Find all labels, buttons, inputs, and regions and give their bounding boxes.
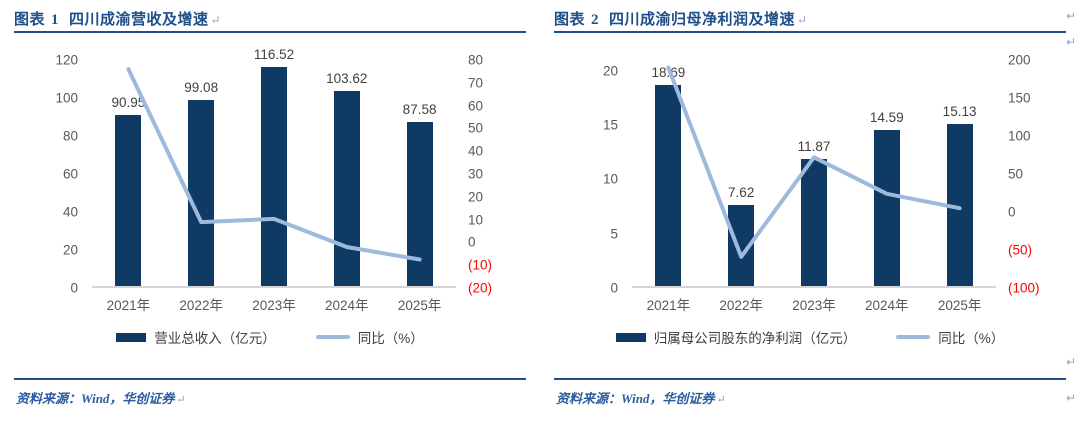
right-axis-tick: 50	[1008, 167, 1023, 182]
right-axis-tick: 0	[1008, 205, 1016, 220]
edge-return-mark-icon: ↵	[1066, 356, 1076, 368]
left-axis-tick: 0	[70, 281, 78, 296]
right-axis-tick: 10	[468, 212, 483, 227]
figure-title-2: 图表2四川成渝归母净利润及增速↵	[554, 8, 808, 29]
line-path	[128, 69, 419, 259]
chart-2-x-axis-labels: 2021年2022年2023年2024年2025年	[632, 294, 996, 318]
legend-line-swatch-icon	[896, 335, 930, 339]
left-axis-tick: 10	[603, 172, 618, 187]
legend-item[interactable]: 归属母公司股东的净利润（亿元）	[616, 327, 857, 347]
chart-1-baseline	[92, 286, 456, 288]
legend-label: 同比（%）	[938, 327, 1004, 347]
figure-number: 1	[51, 12, 59, 28]
chart-2-right-axis: (100)(50)050100150200	[1002, 60, 1066, 288]
chart-2-line-series	[632, 34, 996, 288]
left-axis-tick: 60	[63, 167, 78, 182]
source-divider-2	[554, 378, 1066, 380]
right-axis-tick: 0	[468, 235, 476, 250]
figure-label: 图表	[554, 12, 585, 28]
right-axis-tick: 40	[468, 144, 483, 159]
source-text: 资料来源：Wind，华创证券	[556, 391, 714, 406]
x-axis-label: 2023年	[252, 294, 296, 314]
chart-1-legend: 营业总收入（亿元）同比（%）	[14, 326, 526, 348]
x-axis-label: 2024年	[325, 294, 369, 314]
chart-1: 020406080100120 (20)(10)0102030405060708…	[14, 44, 526, 364]
right-axis-tick: 150	[1008, 91, 1031, 106]
right-axis-tick: 100	[1008, 129, 1031, 144]
edge-return-mark-icon: ↵	[1066, 392, 1076, 404]
right-axis-tick: 30	[468, 167, 483, 182]
paragraph-mark-icon: ↵	[211, 13, 222, 27]
source-note-2: 资料来源：Wind，华创证券↵	[556, 388, 726, 407]
x-axis-label: 2022年	[719, 294, 763, 314]
right-axis-tick: 80	[468, 53, 483, 68]
x-axis-label: 2021年	[107, 294, 151, 314]
left-axis-tick: 5	[610, 226, 618, 241]
legend-line-swatch-icon	[316, 335, 350, 339]
left-axis-tick: 40	[63, 205, 78, 220]
edge-return-mark-icon: ↵	[1066, 10, 1076, 22]
figure-title-text: 四川成渝营收及增速	[69, 12, 209, 28]
x-axis-label: 2022年	[179, 294, 223, 314]
right-axis-tick: 60	[468, 98, 483, 113]
chart-1-x-axis-labels: 2021年2022年2023年2024年2025年	[92, 294, 456, 318]
left-axis-tick: 100	[55, 91, 78, 106]
legend-bar-swatch-icon	[116, 333, 146, 342]
legend-item[interactable]: 同比（%）	[896, 327, 1004, 347]
chart-2-left-axis: 05101520	[554, 60, 618, 288]
right-axis-tick: (10)	[468, 258, 492, 273]
right-axis-tick: 200	[1008, 53, 1031, 68]
legend-bar-swatch-icon	[616, 333, 646, 342]
legend-label: 同比（%）	[358, 327, 424, 347]
right-axis-tick: (20)	[468, 281, 492, 296]
right-axis-tick: 50	[468, 121, 483, 136]
left-axis-tick: 20	[63, 243, 78, 258]
left-axis-tick: 20	[603, 63, 618, 78]
figure-panel-1: 图表1四川成渝营收及增速↵ 020406080100120 (20)(10)01…	[0, 0, 540, 422]
edge-return-mark-icon: ↵	[1066, 36, 1076, 48]
legend-label: 归属母公司股东的净利润（亿元）	[654, 327, 857, 347]
right-axis-tick: 20	[468, 189, 483, 204]
legend-item[interactable]: 营业总收入（亿元）	[116, 327, 276, 347]
chart-1-plot-area: 90.9599.08116.52103.6287.58	[92, 60, 456, 288]
chart-2-legend: 归属母公司股东的净利润（亿元）同比（%）	[554, 326, 1066, 348]
chart-2-baseline	[632, 286, 996, 288]
title-divider-2	[554, 31, 1066, 33]
paragraph-mark-icon: ↵	[797, 13, 808, 27]
source-text: 资料来源：Wind，华创证券	[16, 391, 174, 406]
chart-1-right-axis: (20)(10)01020304050607080	[462, 60, 526, 288]
x-axis-label: 2023年	[792, 294, 836, 314]
x-axis-label: 2021年	[647, 294, 691, 314]
right-axis-tick: (50)	[1008, 243, 1032, 258]
legend-item[interactable]: 同比（%）	[316, 327, 424, 347]
figure-panel-2: 图表2四川成渝归母净利润及增速↵ 05101520 (100)(50)05010…	[540, 0, 1080, 422]
source-divider-1	[14, 378, 526, 380]
figure-number: 2	[591, 12, 599, 28]
figure-title-text: 四川成渝归母净利润及增速	[609, 12, 795, 28]
chart-1-left-axis: 020406080100120	[14, 60, 78, 288]
x-axis-label: 2024年	[865, 294, 909, 314]
chart-2-plot-area: 18.697.6211.8714.5915.13	[632, 60, 996, 288]
legend-label: 营业总收入（亿元）	[154, 327, 276, 347]
paragraph-mark-icon: ↵	[716, 394, 725, 406]
x-axis-label: 2025年	[398, 294, 442, 314]
left-axis-tick: 15	[603, 118, 618, 133]
right-axis-tick: 70	[468, 75, 483, 90]
paragraph-mark-icon: ↵	[176, 394, 185, 406]
title-divider-1	[14, 31, 526, 33]
chart-2: 05101520 (100)(50)050100150200 18.697.62…	[554, 44, 1066, 364]
left-axis-tick: 80	[63, 129, 78, 144]
figure-label: 图表	[14, 12, 45, 28]
left-axis-tick: 0	[610, 281, 618, 296]
right-axis-tick: (100)	[1008, 281, 1040, 296]
document-page: 图表1四川成渝营收及增速↵ 020406080100120 (20)(10)01…	[0, 0, 1080, 422]
figure-title-1: 图表1四川成渝营收及增速↵	[14, 8, 221, 29]
source-note-1: 资料来源：Wind，华创证券↵	[16, 388, 186, 407]
left-axis-tick: 120	[55, 53, 78, 68]
line-path	[668, 68, 959, 257]
x-axis-label: 2025年	[938, 294, 982, 314]
chart-1-line-series	[92, 34, 456, 288]
